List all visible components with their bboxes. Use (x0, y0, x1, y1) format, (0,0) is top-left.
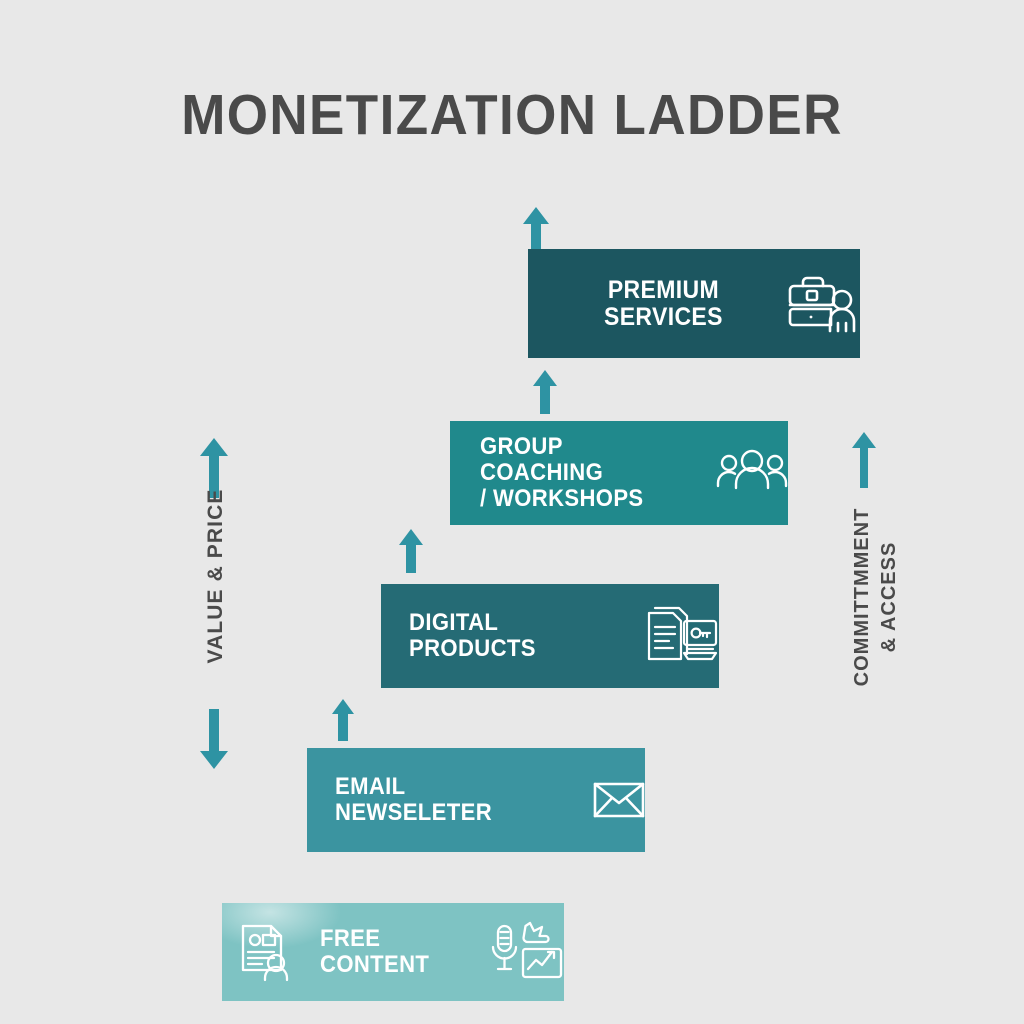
infographic-canvas: MONETIZATION LADDER VALUE & PRICE COMMIT… (0, 0, 1024, 1024)
microphone-chart-icon (490, 920, 564, 984)
axis-commitment-label: COMMITTMMENT & ACCESS (849, 477, 903, 717)
envelope-icon (593, 781, 645, 819)
ladder-step-label: EMAIL NEWSELETER (335, 774, 548, 826)
ladder-step-digital-products[interactable]: DIGITAL PRODUCTS (381, 584, 719, 688)
documents-monitor-icon (643, 603, 719, 669)
ladder-step-free-content[interactable]: FREE CONTENT (222, 903, 564, 1001)
up-arrow-icon (530, 368, 560, 419)
down-arrow-icon (196, 709, 232, 776)
axis-value-and-price: VALUE & PRICE (190, 436, 238, 776)
ladder-step-label: FREE CONTENT (320, 926, 460, 978)
up-arrow-icon (329, 697, 357, 746)
briefcase-person-icon (785, 273, 859, 335)
axis-commitment-and-access: COMMITTMMENT & ACCESS (838, 430, 900, 730)
ladder-step-premium-services[interactable]: PREMIUM SERVICES (528, 249, 860, 358)
page-title: MONETIZATION LADDER (36, 82, 988, 148)
up-arrow-icon (396, 527, 426, 578)
group-people-icon (716, 448, 788, 498)
axis-value-label: VALUE & PRICE (204, 471, 228, 681)
ladder-step-label: DIGITAL PRODUCTS (409, 610, 602, 662)
resume-profile-icon (238, 921, 296, 983)
ladder-step-label: GROUP COACHING / WORKSHOPS (480, 434, 670, 512)
ladder-step-group-coaching[interactable]: GROUP COACHING / WORKSHOPS (450, 421, 788, 525)
ladder-step-email-newsletter[interactable]: EMAIL NEWSELETER (307, 748, 645, 852)
ladder-step-label: PREMIUM SERVICES (604, 277, 723, 331)
